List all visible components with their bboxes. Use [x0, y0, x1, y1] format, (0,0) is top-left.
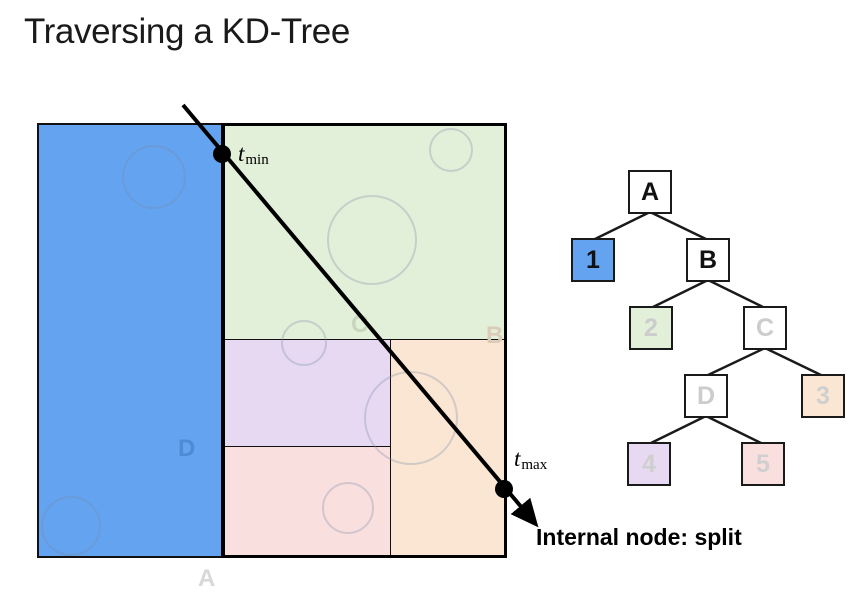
tree-node-5[interactable]: 5 [741, 442, 785, 486]
slide-canvas: Traversing a KD-Tree A B C D [0, 0, 862, 604]
tree-edge-D-4 [649, 416, 706, 444]
tree-node-B[interactable]: B [686, 238, 730, 282]
tree-node-A[interactable]: A [628, 170, 672, 214]
split-label-b: B [486, 322, 503, 350]
scene-circle [364, 371, 458, 465]
split-label-d: D [178, 435, 195, 463]
t-max-var: t [514, 446, 520, 471]
tree-edge-A-1 [593, 212, 650, 240]
scene-circle [41, 496, 101, 556]
kd-tree-diagram: A1B2CD345 [555, 150, 862, 510]
split-plane-a [221, 123, 224, 558]
scene-circle [429, 128, 473, 172]
tree-node-3[interactable]: 3 [801, 374, 845, 418]
t-max-label: tmax [514, 446, 546, 472]
t-min-sub: min [245, 152, 268, 168]
tree-node-1[interactable]: 1 [571, 238, 615, 282]
split-label-a: A [198, 565, 215, 593]
tree-edge-A-B [650, 212, 708, 240]
scene-circle [281, 320, 327, 366]
tree-node-2[interactable]: 2 [629, 306, 673, 350]
tree-edge-C-D [706, 348, 765, 376]
scene-circle [327, 195, 417, 285]
caption-internal-node: Internal node: split [536, 524, 742, 551]
scene-circle [322, 482, 374, 534]
spatial-subdivision-diagram: A B C D tmin tmax [0, 0, 560, 604]
tree-edge-B-2 [651, 280, 708, 308]
split-label-c: C [351, 311, 368, 339]
tree-edge-D-5 [706, 416, 763, 444]
t-min-label: tmin [238, 141, 268, 167]
tree-edges [555, 150, 862, 510]
tree-edge-C-3 [765, 348, 823, 376]
tree-node-4[interactable]: 4 [627, 442, 671, 486]
t-max-sub: max [521, 457, 547, 473]
tree-node-C[interactable]: C [743, 306, 787, 350]
tree-edge-B-C [708, 280, 765, 308]
scene-circle [122, 145, 186, 209]
tree-node-D[interactable]: D [684, 374, 728, 418]
t-min-var: t [238, 141, 244, 166]
